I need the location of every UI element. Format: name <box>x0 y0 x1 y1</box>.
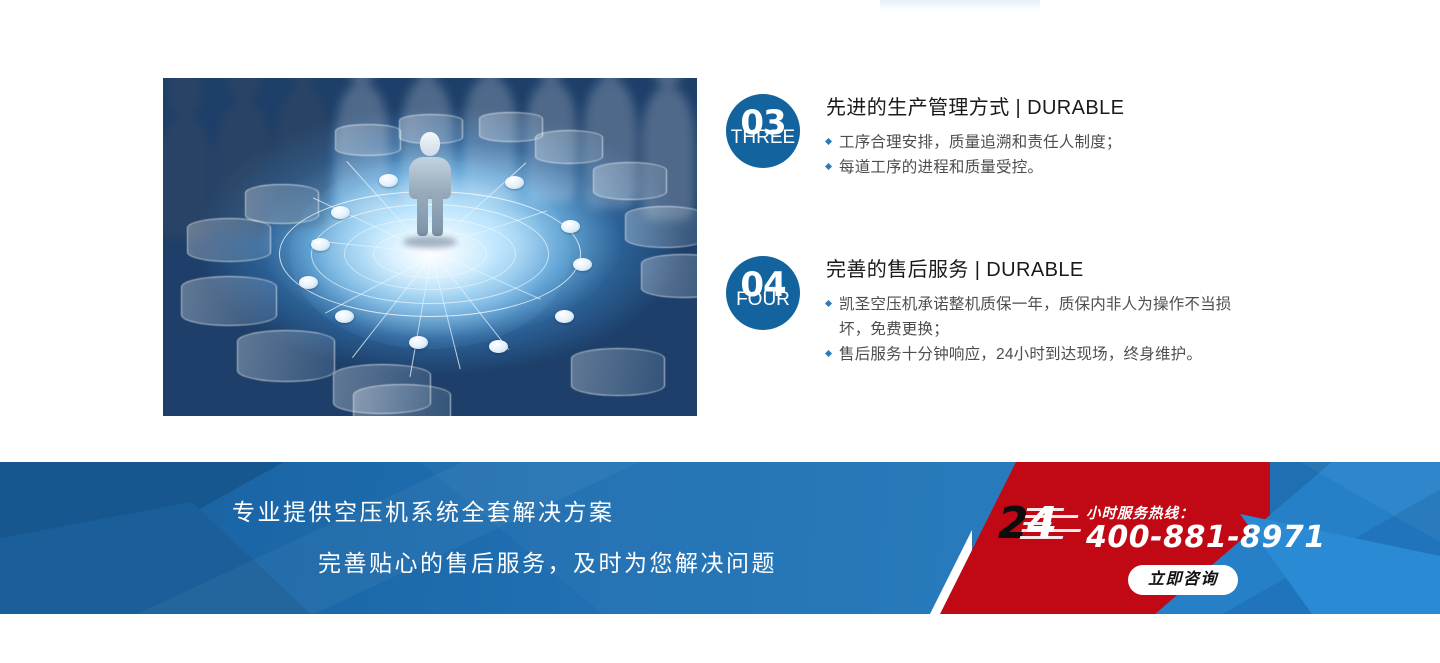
feature-bullet: 凯圣空压机承诺整机质保一年，质保内非人为操作不当损坏，免费更换； <box>826 292 1247 342</box>
feature-item-03: 03 THREE 先进的生产管理方式 | DURABLE 工序合理安排，质量追溯… <box>726 94 1286 180</box>
motion-streaks-icon <box>1017 508 1089 550</box>
feature-list: 03 THREE 先进的生产管理方式 | DURABLE 工序合理安排，质量追溯… <box>726 94 1286 368</box>
node-cylinder <box>593 162 667 200</box>
feature-title: 完善的售后服务 | DURABLE <box>826 258 1286 283</box>
feature-bullets: 凯圣空压机承诺整机质保一年，质保内非人为操作不当损坏，免费更换； 售后服务十分钟… <box>826 292 1286 367</box>
node-cylinder <box>335 124 401 156</box>
badge-word: FOUR <box>726 290 800 309</box>
banner-slogan: 专业提供空压机系统全套解决方案 完善贴心的售后服务，及时为您解决问题 <box>232 498 922 578</box>
feature-bullet: 每道工序的进程和质量受控。 <box>826 155 1286 180</box>
feature-text-04: 完善的售后服务 | DURABLE 凯圣空压机承诺整机质保一年，质保内非人为操作… <box>826 256 1286 367</box>
slogan-line-1: 专业提供空压机系统全套解决方案 <box>232 498 922 527</box>
hotline-block: 24 小时服务热线： 400-881-8971 <box>998 500 1248 562</box>
network-node <box>555 310 574 323</box>
network-node <box>335 310 354 323</box>
network-node <box>311 238 330 251</box>
feature-bullets: 工序合理安排，质量追溯和责任人制度； 每道工序的进程和质量受控。 <box>826 130 1286 180</box>
network-node <box>379 174 398 187</box>
figure-leg-left <box>417 194 428 236</box>
network-node <box>561 220 580 233</box>
network-node <box>331 206 350 219</box>
feature-text-03: 先进的生产管理方式 | DURABLE 工序合理安排，质量追溯和责任人制度； 每… <box>826 94 1286 180</box>
badge-03: 03 THREE <box>726 94 800 168</box>
network-node <box>409 336 428 349</box>
node-cylinder <box>571 348 665 396</box>
network-node <box>505 176 524 189</box>
figure-body <box>409 157 451 199</box>
node-cylinder <box>625 206 697 248</box>
figure-leg-right <box>432 194 443 236</box>
feature-title: 先进的生产管理方式 | DURABLE <box>826 96 1286 121</box>
hotline-number[interactable]: 400-881-8971 <box>1086 520 1326 555</box>
person-figure-icon <box>407 132 453 236</box>
figure-head <box>420 132 440 156</box>
consult-now-button[interactable]: 立即咨询 <box>1128 565 1238 595</box>
node-cylinder <box>181 276 277 326</box>
node-cylinder <box>641 254 697 298</box>
node-cylinder <box>237 330 335 382</box>
feature-bullet: 售后服务十分钟响应，24小时到达现场，终身维护。 <box>826 342 1247 367</box>
figure-shadow <box>403 236 457 248</box>
badge-04: 04 FOUR <box>726 256 800 330</box>
node-cylinder <box>479 112 543 142</box>
top-image-remnant <box>880 0 1040 10</box>
slogan-line-2: 完善贴心的售后服务，及时为您解决问题 <box>232 549 922 578</box>
badge-word: THREE <box>726 128 800 147</box>
network-hero-image <box>163 78 697 416</box>
network-node <box>299 276 318 289</box>
node-cylinder <box>353 384 451 416</box>
feature-item-04: 04 FOUR 完善的售后服务 | DURABLE 凯圣空压机承诺整机质保一年，… <box>726 256 1286 367</box>
node-cylinder <box>535 130 603 164</box>
network-node <box>489 340 508 353</box>
feature-bullet: 工序合理安排，质量追溯和责任人制度； <box>826 130 1286 155</box>
node-cylinder <box>187 218 271 262</box>
network-node <box>573 258 592 271</box>
